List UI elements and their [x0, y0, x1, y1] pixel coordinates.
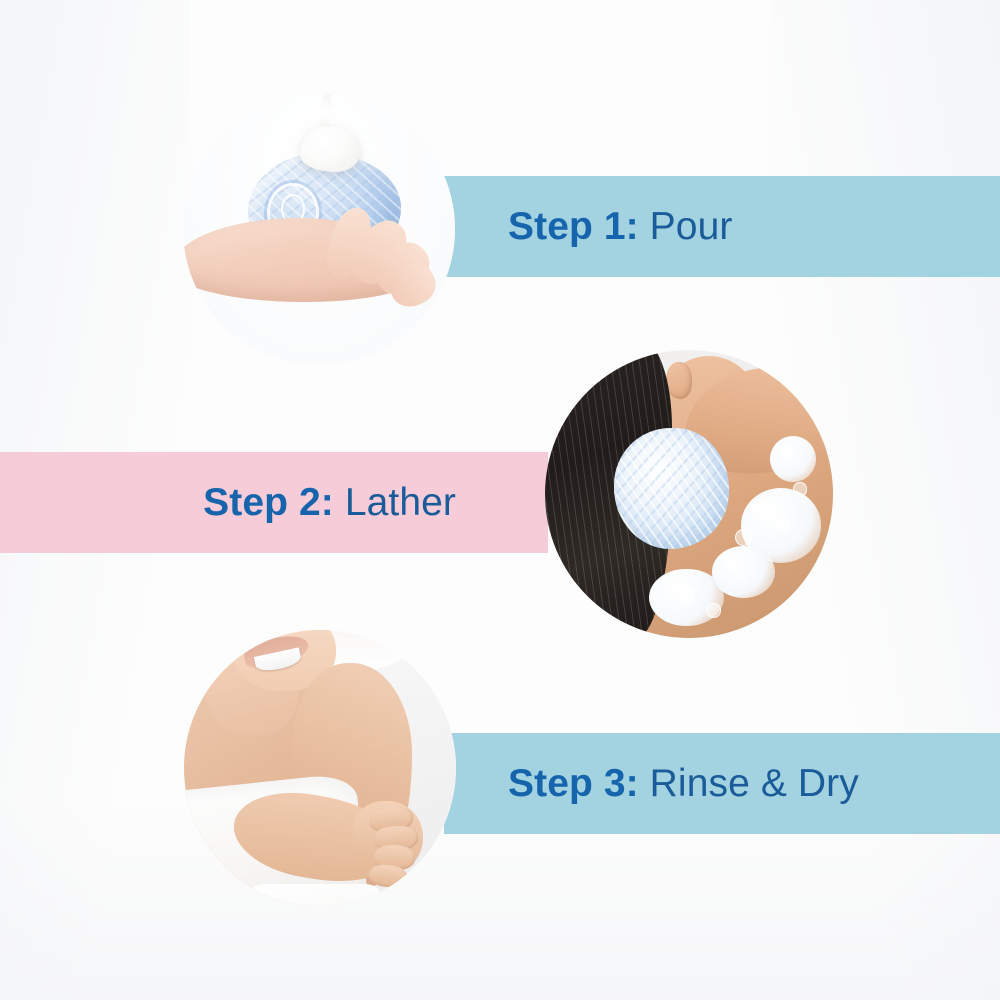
- soap-bubble: [793, 482, 807, 496]
- step-2-label-bold: Step 2:: [203, 481, 334, 524]
- loofah-mesh-texture: [614, 428, 729, 549]
- ear: [666, 362, 692, 399]
- step-2-label: Step 2: Lather: [203, 483, 456, 522]
- soap-bubble: [752, 500, 772, 520]
- soap-suds: [770, 436, 816, 482]
- pour-photo: [183, 93, 455, 365]
- soap-bubble: [735, 529, 752, 546]
- step-1-label-regular: Pour: [650, 205, 733, 248]
- step-1-band: Step 1: Pour: [444, 176, 1000, 277]
- step-1-photo-circle: [183, 93, 455, 365]
- step-3-label-bold: Step 3:: [508, 762, 639, 805]
- soap-bubble: [706, 603, 720, 617]
- step-3-photo-circle: [184, 630, 456, 906]
- step-3-label-regular: Rinse & Dry: [650, 762, 859, 805]
- soap-bubble: [677, 586, 694, 603]
- step-2-photo-circle: [545, 350, 833, 638]
- loofah-shape: [614, 428, 729, 549]
- step-3-label: Step 3: Rinse & Dry: [508, 764, 859, 803]
- lather-photo: [545, 350, 833, 638]
- step-2-band: Step 2: Lather: [0, 452, 548, 553]
- step-1-label-bold: Step 1:: [508, 205, 639, 248]
- step-1-label: Step 1: Pour: [508, 207, 732, 246]
- rinse-dry-photo: [184, 630, 456, 906]
- white-towel-lower: [249, 884, 380, 906]
- step-3-band: Step 3: Rinse & Dry: [444, 733, 1000, 834]
- soap-bubble: [775, 517, 789, 531]
- infographic-canvas: Step 1: Pour Step 2: Lather Step 3: Rins…: [0, 0, 1000, 1000]
- step-2-label-regular: Lather: [345, 481, 456, 524]
